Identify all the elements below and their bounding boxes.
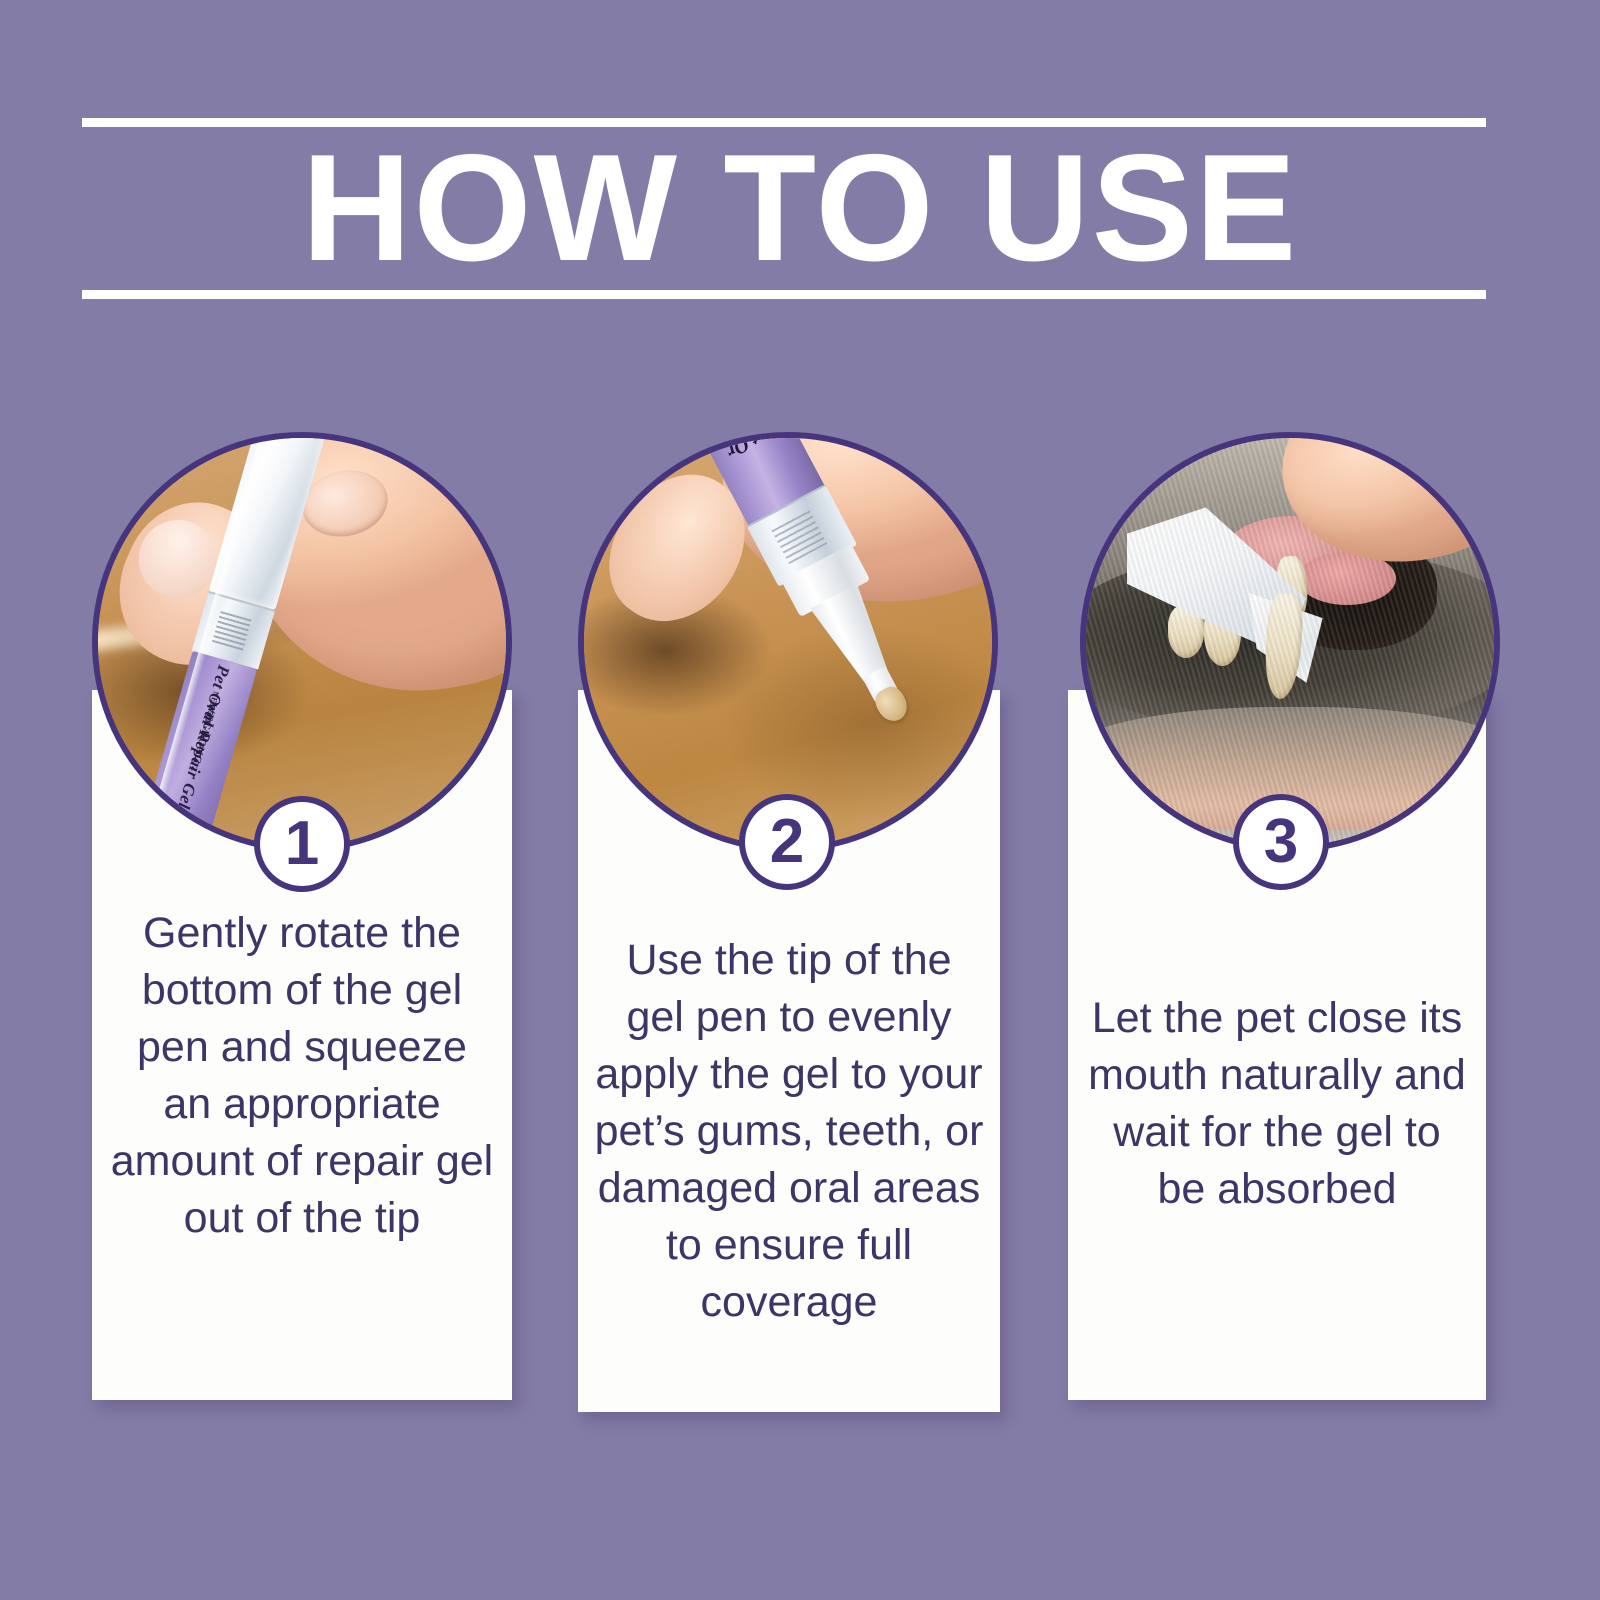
step-3-photo <box>1080 432 1500 852</box>
step-2-text: Use the tip of the gel pen to evenly app… <box>578 932 1000 1331</box>
step-2-photo: Pet Or <box>578 432 998 852</box>
steps-container: Gently rotate the bottom of the gel pen … <box>0 0 1600 1600</box>
step-1-text: Gently rotate the bottom of the gel pen … <box>92 905 512 1247</box>
step-3-number: 3 <box>1264 811 1298 873</box>
step-1-photo: Pet Oral Repair Gel WEGRONG NET:5ML/0.17… <box>92 432 512 852</box>
step-2-photo-scene: Pet Or <box>584 438 992 846</box>
step-2-number: 2 <box>770 811 804 873</box>
step-1-photo-scene: Pet Oral Repair Gel WEGRONG NET:5ML/0.17… <box>98 438 506 846</box>
step-2-badge: 2 <box>739 794 835 890</box>
step-3-badge: 3 <box>1233 794 1329 890</box>
step-3-photo-scene <box>1086 438 1494 846</box>
step-1-badge: 1 <box>254 796 350 892</box>
step-1-number: 1 <box>285 813 319 875</box>
step-3-text: Let the pet close its mouth naturally an… <box>1068 990 1486 1218</box>
pen-label-text: Pet Or <box>722 432 780 463</box>
